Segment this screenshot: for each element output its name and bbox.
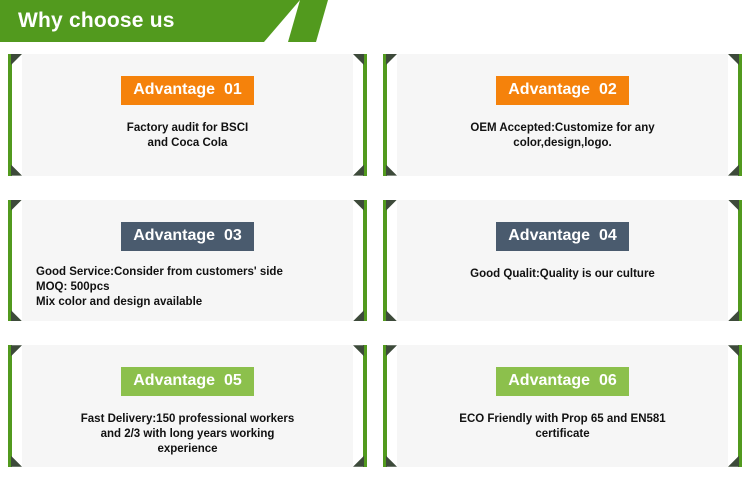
bracket-tab-bottom (353, 310, 364, 321)
bracket-tab-top (386, 345, 397, 356)
bracket-tab-bottom (11, 165, 22, 176)
advantage-cell-05: Advantage 05 Fast Delivery:150 professio… (0, 333, 375, 479)
card-content: Advantage 03 Good Service:Consider from … (22, 200, 353, 322)
bracket-bar (738, 200, 742, 322)
bracket-tab-top (386, 200, 397, 211)
bracket-bar (363, 200, 367, 322)
advantage-badge-06: Advantage 06 (496, 367, 628, 396)
bracket-left-icon (8, 54, 22, 176)
advantage-cell-03: Advantage 03 Good Service:Consider from … (0, 188, 375, 334)
bracket-tab-top (386, 54, 397, 65)
bracket-tab-bottom (386, 456, 397, 467)
page-title: Why choose us (18, 6, 175, 36)
advantage-badge-04: Advantage 04 (496, 222, 628, 251)
bracket-tab-bottom (353, 456, 364, 467)
advantage-body-01: Factory audit for BSCI and Coca Cola (113, 121, 262, 151)
page-header: Why choose us (0, 0, 750, 42)
bracket-bar (383, 345, 387, 467)
card-content: Advantage 05 Fast Delivery:150 professio… (22, 345, 353, 467)
bracket-tab-bottom (353, 165, 364, 176)
bracket-right-icon (728, 345, 742, 467)
advantage-card-04[interactable]: Advantage 04 Good Qualit:Quality is our … (397, 200, 728, 322)
bracket-bar (383, 200, 387, 322)
bracket-left-icon (383, 345, 397, 467)
advantage-badge-05: Advantage 05 (121, 367, 253, 396)
advantages-row-2: Advantage 03 Good Service:Consider from … (0, 188, 750, 334)
bracket-tab-bottom (11, 310, 22, 321)
advantage-body-04: Good Qualit:Quality is our culture (456, 267, 669, 282)
advantage-body-06: ECO Friendly with Prop 65 and EN581 cert… (445, 412, 679, 442)
card-content: Advantage 04 Good Qualit:Quality is our … (397, 200, 728, 322)
bracket-right-icon (728, 54, 742, 176)
bracket-right-icon (353, 54, 367, 176)
advantage-badge-01: Advantage 01 (121, 76, 253, 105)
advantage-body-03: Good Service:Consider from customers' si… (22, 265, 297, 310)
advantage-card-01[interactable]: Advantage 01 Factory audit for BSCI and … (22, 54, 353, 176)
bracket-left-icon (383, 200, 397, 322)
bracket-bar (383, 54, 387, 176)
card-content: Advantage 02 OEM Accepted:Customize for … (397, 54, 728, 176)
advantage-cell-01: Advantage 01 Factory audit for BSCI and … (0, 42, 375, 188)
advantage-badge-03: Advantage 03 (121, 222, 253, 251)
bracket-bar (738, 345, 742, 467)
bracket-tab-top (353, 54, 364, 65)
bracket-tab-top (11, 345, 22, 356)
bracket-tab-bottom (386, 310, 397, 321)
advantages-row-1: Advantage 01 Factory audit for BSCI and … (0, 42, 750, 188)
bracket-left-icon (383, 54, 397, 176)
advantage-cell-02: Advantage 02 OEM Accepted:Customize for … (375, 42, 750, 188)
card-content: Advantage 01 Factory audit for BSCI and … (22, 54, 353, 176)
advantage-card-03[interactable]: Advantage 03 Good Service:Consider from … (22, 200, 353, 322)
bracket-tab-bottom (386, 165, 397, 176)
advantage-cell-06: Advantage 06 ECO Friendly with Prop 65 a… (375, 333, 750, 479)
bracket-tab-top (353, 345, 364, 356)
bracket-right-icon (353, 345, 367, 467)
advantage-cell-04: Advantage 04 Good Qualit:Quality is our … (375, 188, 750, 334)
bracket-bar (8, 54, 12, 176)
bracket-tab-top (11, 54, 22, 65)
bracket-tab-top (353, 200, 364, 211)
advantages-grid: Advantage 01 Factory audit for BSCI and … (0, 42, 750, 479)
card-content: Advantage 06 ECO Friendly with Prop 65 a… (397, 345, 728, 467)
bracket-right-icon (728, 200, 742, 322)
bracket-right-icon (353, 200, 367, 322)
bracket-bar (738, 54, 742, 176)
bracket-tab-top (11, 200, 22, 211)
advantage-body-02: OEM Accepted:Customize for any color,des… (456, 121, 668, 151)
bracket-tab-bottom (11, 456, 22, 467)
advantage-body-05: Fast Delivery:150 professional workers a… (67, 412, 309, 457)
bracket-bar (8, 345, 12, 467)
bracket-left-icon (8, 200, 22, 322)
advantage-card-02[interactable]: Advantage 02 OEM Accepted:Customize for … (397, 54, 728, 176)
bracket-bar (363, 345, 367, 467)
advantages-row-3: Advantage 05 Fast Delivery:150 professio… (0, 333, 750, 479)
advantage-badge-02: Advantage 02 (496, 76, 628, 105)
bracket-bar (8, 200, 12, 322)
bracket-bar (363, 54, 367, 176)
bracket-left-icon (8, 345, 22, 467)
advantage-card-06[interactable]: Advantage 06 ECO Friendly with Prop 65 a… (397, 345, 728, 467)
advantage-card-05[interactable]: Advantage 05 Fast Delivery:150 professio… (22, 345, 353, 467)
